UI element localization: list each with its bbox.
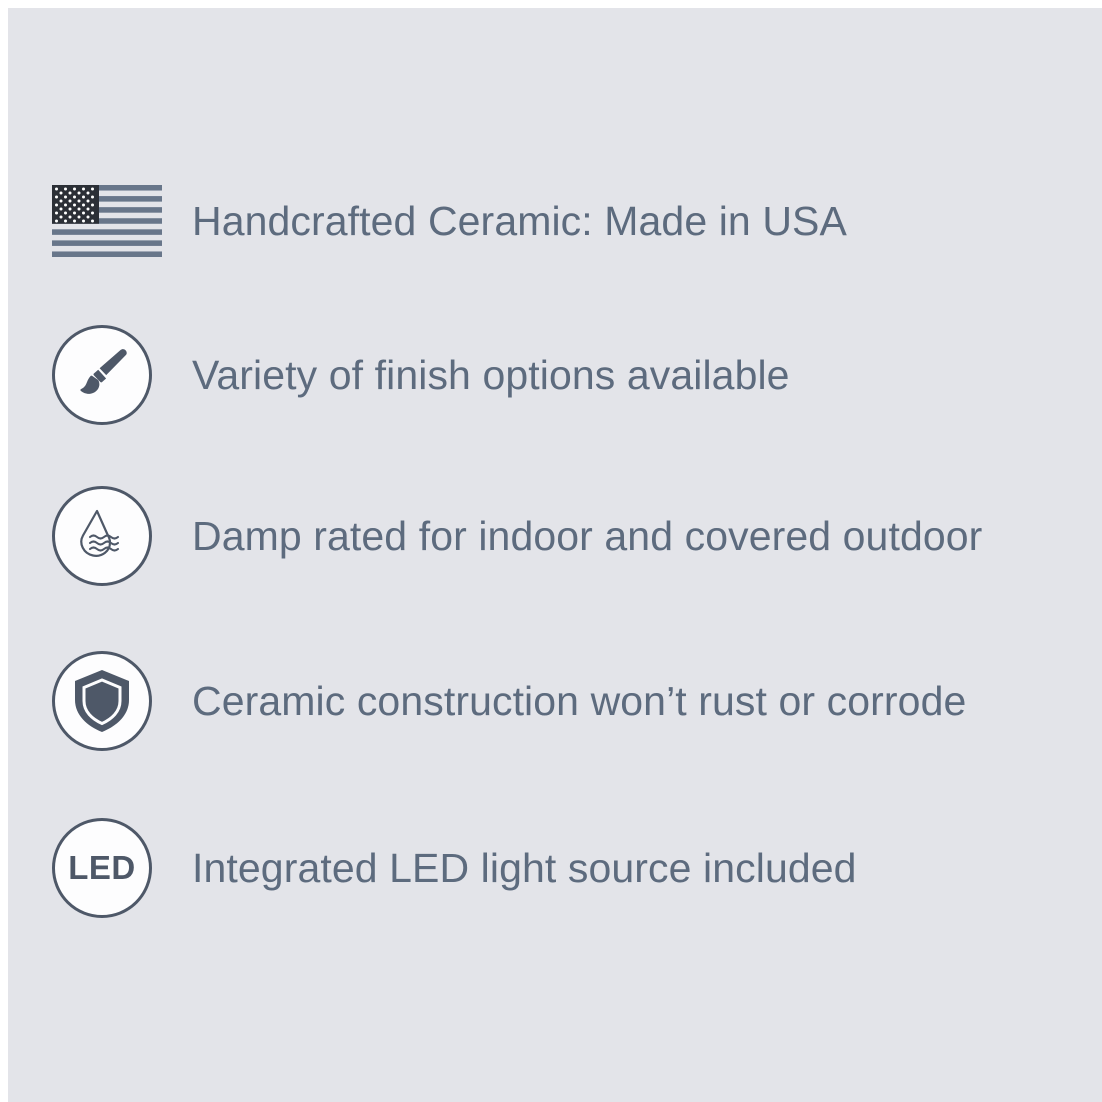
feature-row-finish-options: Variety of finish options available <box>52 315 790 435</box>
paintbrush-icon <box>71 344 133 406</box>
led-badge-icon: LED <box>68 849 136 887</box>
icon-slot <box>52 478 168 594</box>
product-features-panel: Handcrafted Ceramic: Made in USA Variety… <box>8 8 1102 1102</box>
feature-row-led-included: LED Integrated LED light source included <box>52 808 857 928</box>
feature-label: Damp rated for indoor and covered outdoo… <box>192 516 982 557</box>
feature-label: Variety of finish options available <box>192 355 790 396</box>
icon-slot <box>52 643 168 759</box>
icon-slot <box>52 163 168 279</box>
icon-slot <box>52 317 168 433</box>
feature-row-damp-rated: Damp rated for indoor and covered outdoo… <box>52 476 982 596</box>
feature-label: Ceramic construction won’t rust or corro… <box>192 681 966 722</box>
icon-circle: LED <box>52 818 152 918</box>
feature-row-made-in-usa: Handcrafted Ceramic: Made in USA <box>52 161 847 281</box>
feature-label: Handcrafted Ceramic: Made in USA <box>192 201 847 242</box>
feature-label: Integrated LED light source included <box>192 848 857 889</box>
water-droplet-icon <box>69 503 135 569</box>
feature-row-no-rust: Ceramic construction won’t rust or corro… <box>52 641 966 761</box>
shield-icon <box>71 668 133 734</box>
icon-circle <box>52 651 152 751</box>
usa-flag-icon <box>52 185 162 257</box>
icon-slot: LED <box>52 810 168 926</box>
icon-circle <box>52 486 152 586</box>
icon-circle <box>52 325 152 425</box>
